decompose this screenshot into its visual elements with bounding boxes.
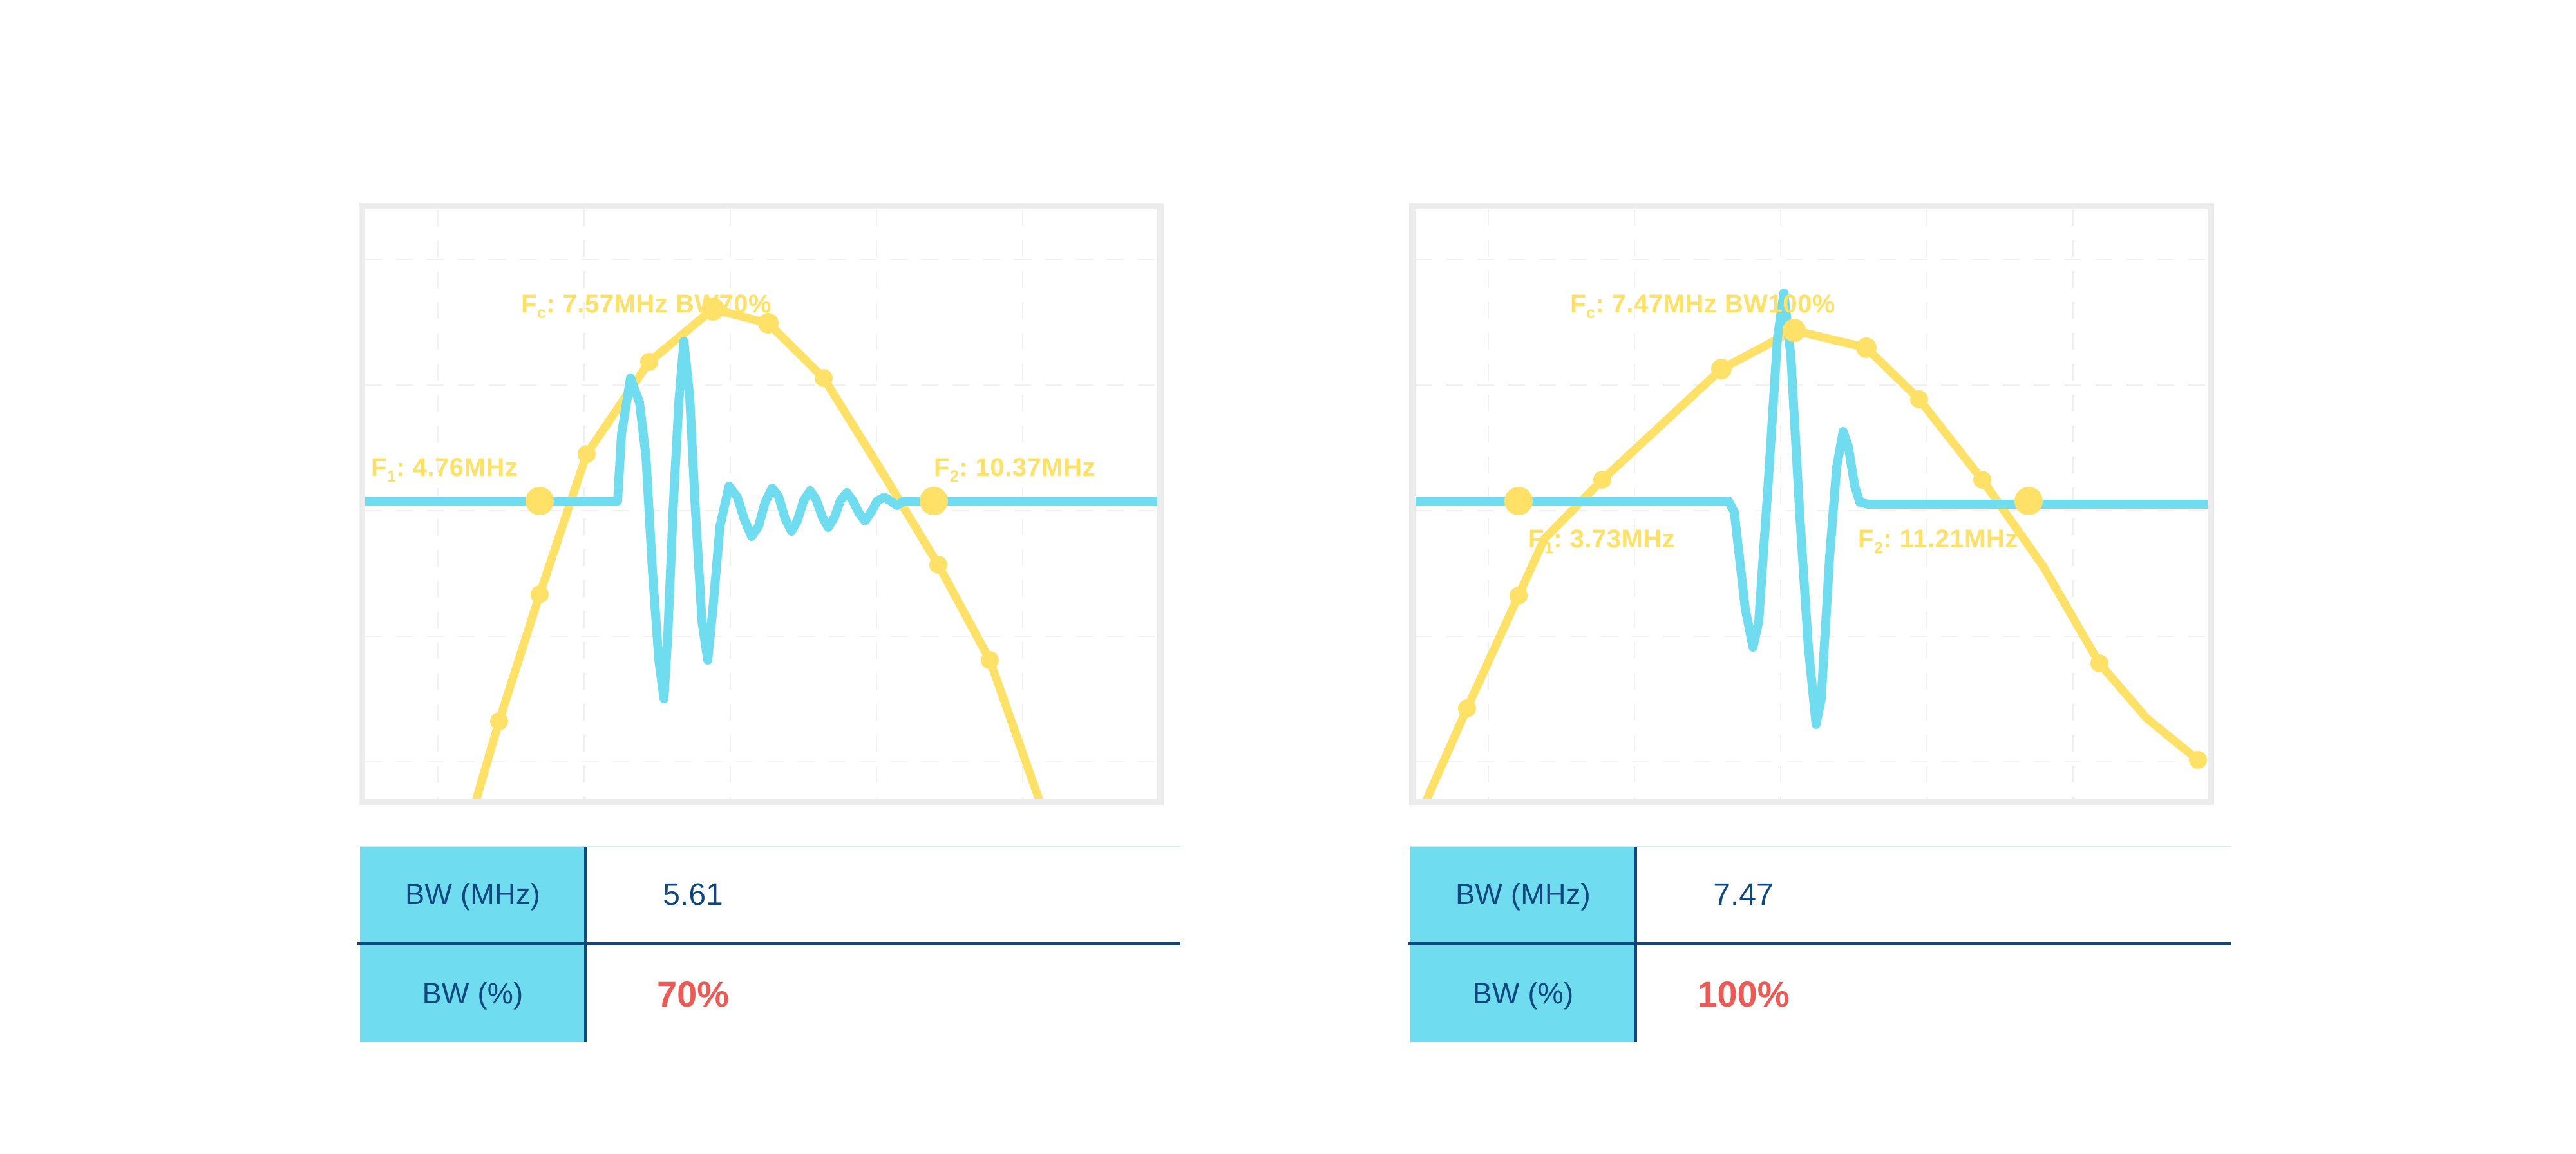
plot-frame-bw70: Fc: 7.57MHz BW70% F1: 4.76MHz F2: 10.37M… xyxy=(359,203,1164,805)
annotation-f1-bw70: F1: 4.76MHz xyxy=(371,453,518,486)
annotation-fc-bw100: Fc: 7.47MHz BW100% xyxy=(1570,290,1835,323)
table-column-rule-bw100 xyxy=(1634,847,1637,1042)
table-label-bw-pct-bw100: BW (%) xyxy=(1410,945,1636,1042)
marker-f1-bw70 xyxy=(526,487,554,515)
f2-text-bw70: : 10.37MHz xyxy=(959,453,1095,482)
f2-subscript-bw70: 2 xyxy=(950,468,959,486)
annotation-f1-bw100: F1: 3.73MHz xyxy=(1528,525,1675,558)
pulse-waveform-bw100 xyxy=(1416,293,2208,724)
table-label-bw-mhz-bw100: BW (MHz) xyxy=(1410,847,1636,942)
pulse-waveform-bw70 xyxy=(365,341,1157,699)
fc-symbol-bw70: F xyxy=(521,290,537,318)
plot-area-bw70: Fc: 7.57MHz BW70% F1: 4.76MHz F2: 10.37M… xyxy=(365,209,1157,799)
f2-text-bw100: : 11.21MHz xyxy=(1883,525,2018,553)
f1-text-bw70: : 4.76MHz xyxy=(396,453,518,482)
fc-text-bw70: : 7.57MHz BW70% xyxy=(546,290,772,318)
table-row: BW (%) 100% xyxy=(1410,945,2231,1042)
f1-subscript-bw100: 1 xyxy=(1544,540,1553,557)
f1-text-bw100: : 3.73MHz xyxy=(1553,525,1675,553)
fc-subscript-bw100: c xyxy=(1586,305,1595,322)
annotation-f2-bw70: F2: 10.37MHz xyxy=(934,453,1095,486)
table-label-bw-mhz-bw70: BW (MHz) xyxy=(360,847,585,942)
table-value-bw-mhz-bw70: 5.61 xyxy=(585,847,1180,942)
marker-f1-bw100 xyxy=(1504,487,1533,515)
bw-table-bw70: BW (MHz) 5.61 BW (%) 70% xyxy=(360,846,1184,1042)
f1-subscript-bw70: 1 xyxy=(387,468,396,486)
table-label-bw-pct-bw70: BW (%) xyxy=(360,945,585,1042)
plot-area-bw100: Fc: 7.47MHz BW100% F1: 3.73MHz F2: 11.21… xyxy=(1416,209,2208,799)
table-row: BW (MHz) 5.61 xyxy=(360,847,1180,942)
f1-symbol-bw70: F xyxy=(371,453,387,482)
fc-subscript-bw70: c xyxy=(537,305,546,322)
marker-f2-bw100 xyxy=(2014,487,2043,515)
annotation-f2-bw100: F2: 11.21MHz xyxy=(1858,525,2018,558)
table-value-bw-pct-bw100: 100% xyxy=(1636,945,2231,1042)
fc-text-bw100: : 7.47MHz BW100% xyxy=(1595,290,1835,318)
f2-symbol-bw100: F xyxy=(1858,525,1874,553)
table-row: BW (MHz) 7.47 xyxy=(1410,847,2231,942)
plot-frame-bw100: Fc: 7.47MHz BW100% F1: 3.73MHz F2: 11.21… xyxy=(1409,203,2214,805)
table-row: BW (%) 70% xyxy=(360,945,1180,1042)
annotation-fc-bw70: Fc: 7.57MHz BW70% xyxy=(521,290,772,323)
spectrum-curve-bw70 xyxy=(477,309,1039,799)
f1-symbol-bw100: F xyxy=(1528,525,1544,553)
f2-subscript-bw100: 2 xyxy=(1874,540,1883,557)
f2-symbol-bw70: F xyxy=(934,453,950,482)
table-column-rule-bw70 xyxy=(584,847,587,1042)
fc-symbol-bw100: F xyxy=(1570,290,1586,318)
table-value-bw-mhz-bw100: 7.47 xyxy=(1636,847,2231,942)
bw-table-bw100: BW (MHz) 7.47 BW (%) 100% xyxy=(1410,846,2235,1042)
marker-f2-bw70 xyxy=(920,487,948,515)
spectrum-curve-bw100 xyxy=(1427,330,2198,799)
table-value-bw-pct-bw70: 70% xyxy=(585,945,1180,1042)
